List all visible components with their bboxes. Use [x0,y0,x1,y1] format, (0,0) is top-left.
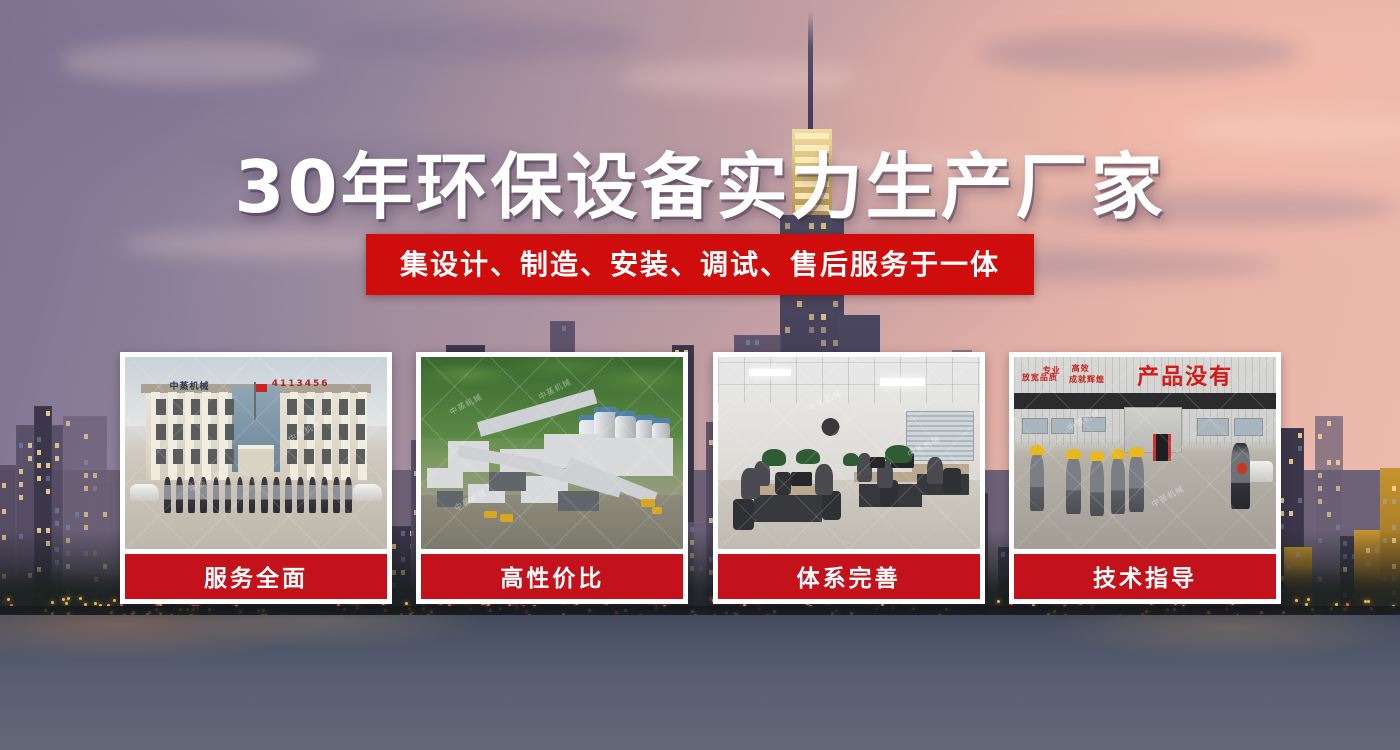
feature-card-caption: 服务全面 [125,554,387,599]
industrial-plant-aerial-photo: 中蒸机械 中蒸机械 中蒸机械 [421,357,683,549]
subtitle-banner: 集设计、制造、安装、调试、售后服务于一体 [366,234,1034,295]
feature-card[interactable]: 中蒸机械 4113456 中蒸机械 中蒸机械 服务全面 [120,352,392,604]
banner-stage: 30年环保设备实力生产厂家 集设计、制造、安装、调试、售后服务于一体 [0,0,1400,750]
feature-card-caption: 技术指导 [1014,554,1276,599]
building-sign-text: 中蒸机械 [170,379,210,392]
water-reflections [0,615,1400,750]
workers-training-photo: 产品没有 放宽品质 专业 高效 成就辉煌 中蒸机械 中蒸机械 [1014,357,1276,549]
feature-card[interactable]: 中蒸机械 中蒸机械 体系完善 [713,352,985,604]
company-headquarters-photo: 中蒸机械 4113456 中蒸机械 中蒸机械 [125,357,387,549]
factory-wall-text: 产品没有 [1137,359,1233,391]
office-interior-photo: 中蒸机械 中蒸机械 [718,357,980,549]
feature-card[interactable]: 中蒸机械 中蒸机械 中蒸机械 高性价比 [416,352,688,604]
feature-card[interactable]: 产品没有 放宽品质 专业 高效 成就辉煌 中蒸机械 中蒸机械 技术指导 [1009,352,1281,604]
feature-card-caption: 体系完善 [718,554,980,599]
feature-card-caption: 高性价比 [421,554,683,599]
feature-card-row: 中蒸机械 4113456 中蒸机械 中蒸机械 服务全面 中蒸机械 中蒸机械 [120,352,1281,604]
page-title: 30年环保设备实力生产厂家 [0,128,1400,233]
building-phone-text: 4113456 [272,379,330,389]
landmark-tower-spire [808,11,813,129]
